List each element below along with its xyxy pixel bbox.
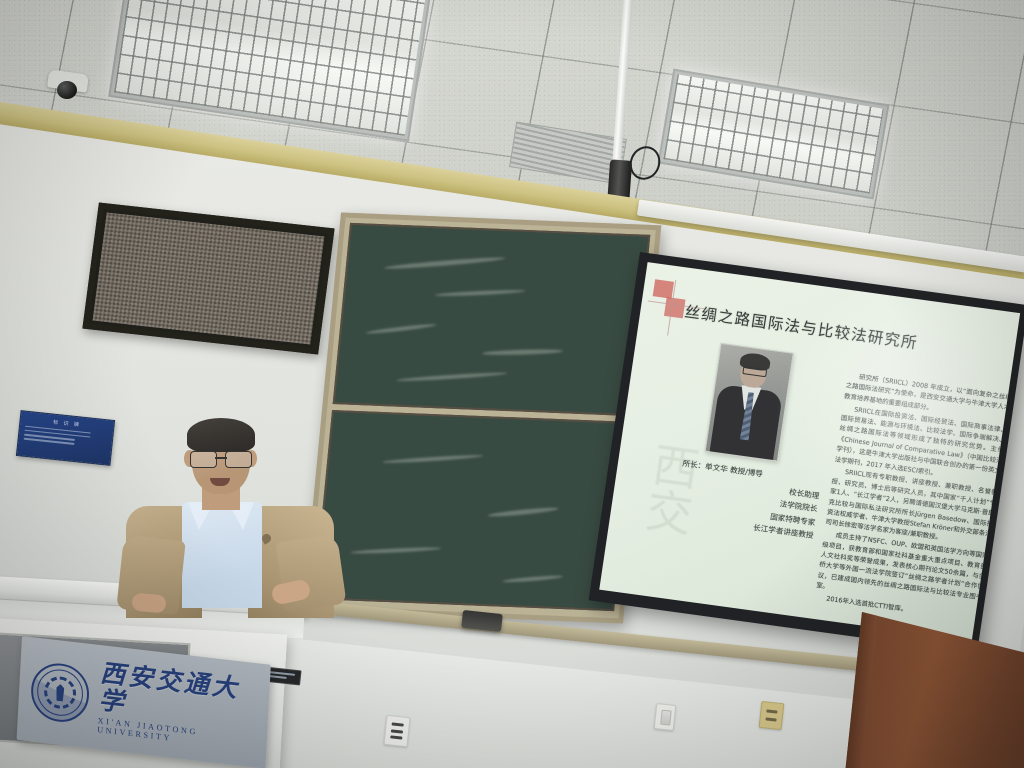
presentation-slide: 丝绸之路国际法与比较法研究所 西交 所长：单文华 教授/博导 校长助理 法学院院… [599, 262, 1020, 640]
slide-body-text: 研究所（SRIICL）2008 年成立，以“面向复杂之丝绸之路国际法研究”为使命… [814, 370, 1013, 626]
projection-screen: 丝绸之路国际法与比较法研究所 西交 所长：单文华 教授/博导 校长助理 法学院院… [589, 252, 1024, 653]
power-outlet-icon[interactable] [383, 715, 410, 747]
decor-square [653, 279, 674, 298]
lecturer-at-podium [120, 418, 350, 618]
dome-security-camera-icon [48, 72, 88, 102]
university-name-block: 西安交通大学 XI'AN JIAOTONG UNIVERSITY [97, 660, 258, 752]
chalkboard-panel-upper [333, 223, 651, 417]
decor-square [664, 297, 686, 318]
wall-plaque: 标 识 牌 [16, 410, 115, 466]
light-switch-icon[interactable] [654, 703, 677, 731]
eyeglasses-icon [190, 451, 252, 466]
lecture-hall-photo: 标 识 牌 丝绸之 [0, 0, 1024, 768]
led-matrix-texture [93, 212, 325, 344]
university-seal-icon [30, 660, 91, 725]
plaque-title: 标 识 牌 [25, 416, 108, 432]
dress-shirt [182, 502, 262, 608]
slide-caption-block: 所长：单文华 教授/博导 校长助理 法学院院长 国家特聘专家 长江学者讲座教授 [670, 456, 828, 543]
chalkboard-panel-lower [314, 410, 632, 611]
hand-left [131, 593, 166, 614]
hair [187, 418, 255, 452]
slide-title: 丝绸之路国际法与比较法研究所 [683, 300, 919, 354]
camera-dome [57, 81, 77, 99]
led-notice-display[interactable] [82, 203, 334, 355]
slide-portrait-photo [705, 343, 794, 462]
network-outlet-icon[interactable] [759, 701, 785, 730]
